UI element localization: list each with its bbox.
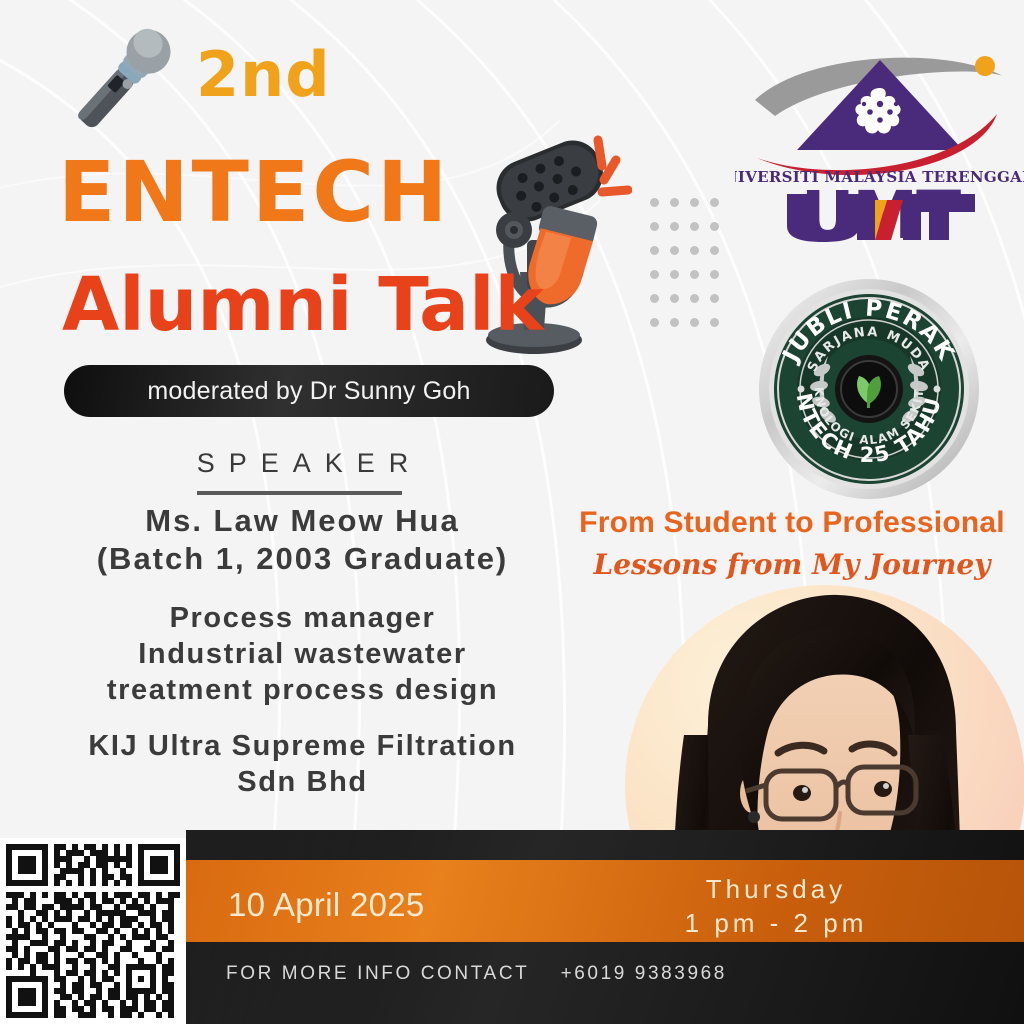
dot-grid-decoration [650, 198, 730, 342]
speaker-role: Process manager Industrial wastewater tr… [0, 600, 605, 708]
moderator-text: moderated by Dr Sunny Goh [147, 377, 470, 406]
handheld-microphone-icon [52, 18, 187, 148]
speaker-company-line2: Sdn Bhd [0, 764, 605, 800]
speaker-label: SPEAKER [0, 448, 605, 479]
speaker-company-line1: KIJ Ultra Supreme Filtration [0, 728, 605, 764]
title-ordinal: 2nd [196, 38, 331, 111]
speaker-name: Ms. Law Meow Hua (Batch 1, 2003 Graduate… [0, 502, 605, 578]
speaker-company: KIJ Ultra Supreme Filtration Sdn Bhd [0, 728, 605, 800]
event-date: 10 April 2025 [228, 886, 425, 924]
speaker-name-line1: Ms. Law Meow Hua [0, 502, 605, 540]
event-day-time: Thursday 1 pm - 2 pm [641, 872, 911, 940]
qr-code[interactable] [0, 838, 186, 1024]
jubli-perak-badge: JUBLI PERAK ENTECH 25 TAHUN SARJANA MUDA… [758, 278, 980, 500]
speaker-divider [197, 491, 402, 495]
speaker-role-line2: Industrial wastewater [0, 636, 605, 672]
event-time: 1 pm - 2 pm [641, 906, 911, 940]
speaker-role-line3: treatment process design [0, 672, 605, 708]
title-main: ENTECH [58, 143, 450, 241]
contact-line: FOR MORE INFO CONTACT +6019 9383968 [226, 963, 727, 985]
event-day: Thursday [641, 872, 911, 906]
title-sub: Alumni Talk [62, 262, 544, 348]
talk-title: From Student to Professional [560, 506, 1024, 540]
speaker-name-line2: (Batch 1, 2003 Graduate) [0, 540, 605, 578]
talk-subtitle: Lessons from My Journey [560, 548, 1024, 581]
contact-number: +6019 9383968 [561, 963, 727, 984]
poster-canvas: 2nd ENTECH Alumni Talk moderated by Dr S… [0, 0, 1024, 1024]
moderator-pill: moderated by Dr Sunny Goh [64, 365, 554, 417]
event-info-panel: 10 April 2025 Thursday 1 pm - 2 pm FOR M… [186, 830, 1024, 1024]
umt-logo: UNIVERSITI MALAYSIA TERENGGANU UMT UMT [735, 42, 1024, 242]
speaker-role-line1: Process manager [0, 600, 605, 636]
contact-label: FOR MORE INFO CONTACT [226, 963, 529, 984]
